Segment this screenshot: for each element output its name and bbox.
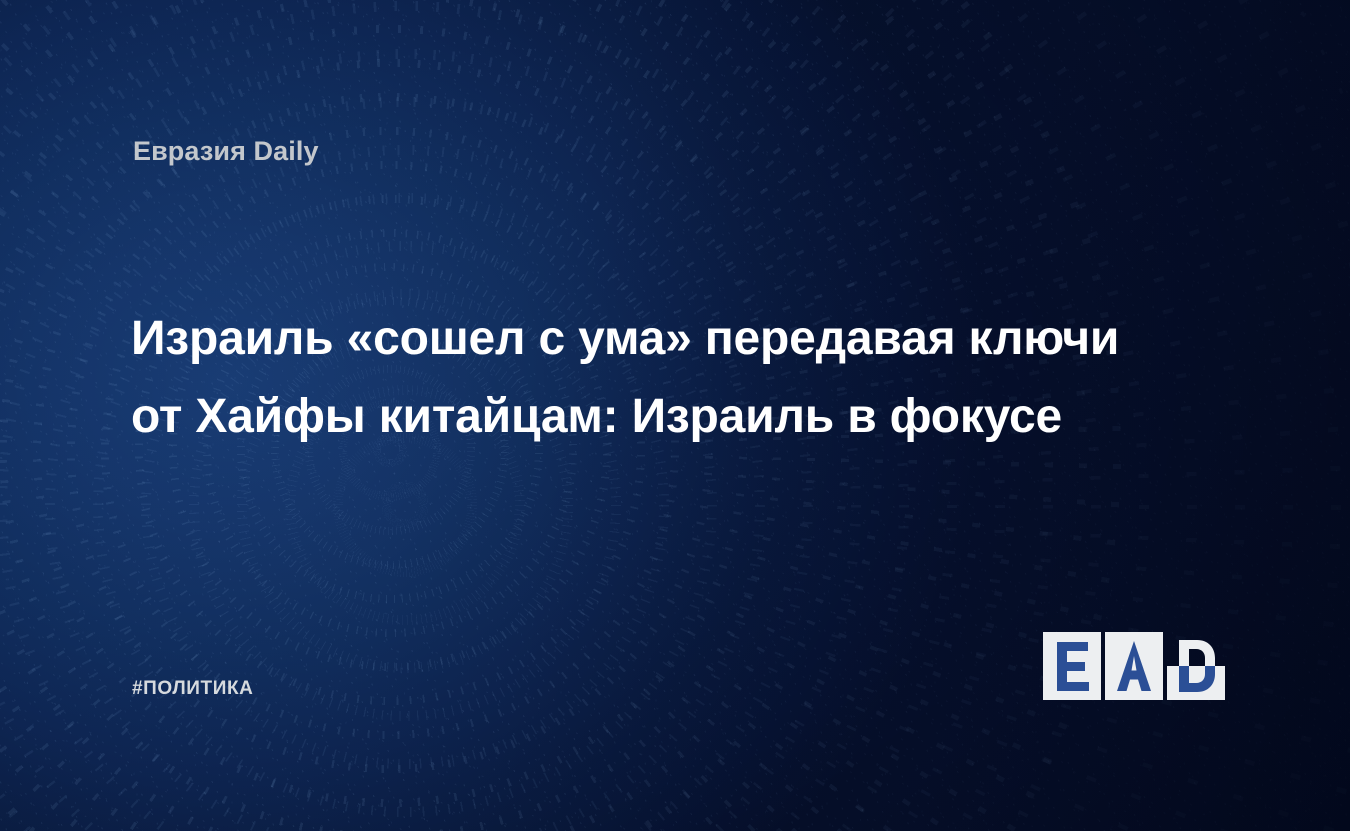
logo-tile-a [1105, 632, 1163, 700]
eadaily-logo [1043, 624, 1225, 708]
logo-tile-d-bottom [1167, 666, 1225, 700]
brand-name: Евразия Daily [133, 136, 319, 167]
page-title: Израиль «сошел с ума» передавая ключи от… [131, 300, 1141, 456]
category-tag: #ПОЛИТИКА [132, 678, 254, 700]
letter-a-glyph [1105, 632, 1163, 700]
logo-tile-d-top [1167, 632, 1225, 666]
card-content: Евразия Daily Израиль «сошел с ума» пере… [0, 0, 1350, 831]
letter-d-top-glyph [1167, 632, 1225, 666]
letter-e-glyph [1043, 632, 1101, 700]
article-share-card: Евразия Daily Израиль «сошел с ума» пере… [0, 0, 1350, 831]
letter-d-bottom-glyph [1167, 666, 1225, 700]
logo-tile-e [1043, 632, 1101, 700]
